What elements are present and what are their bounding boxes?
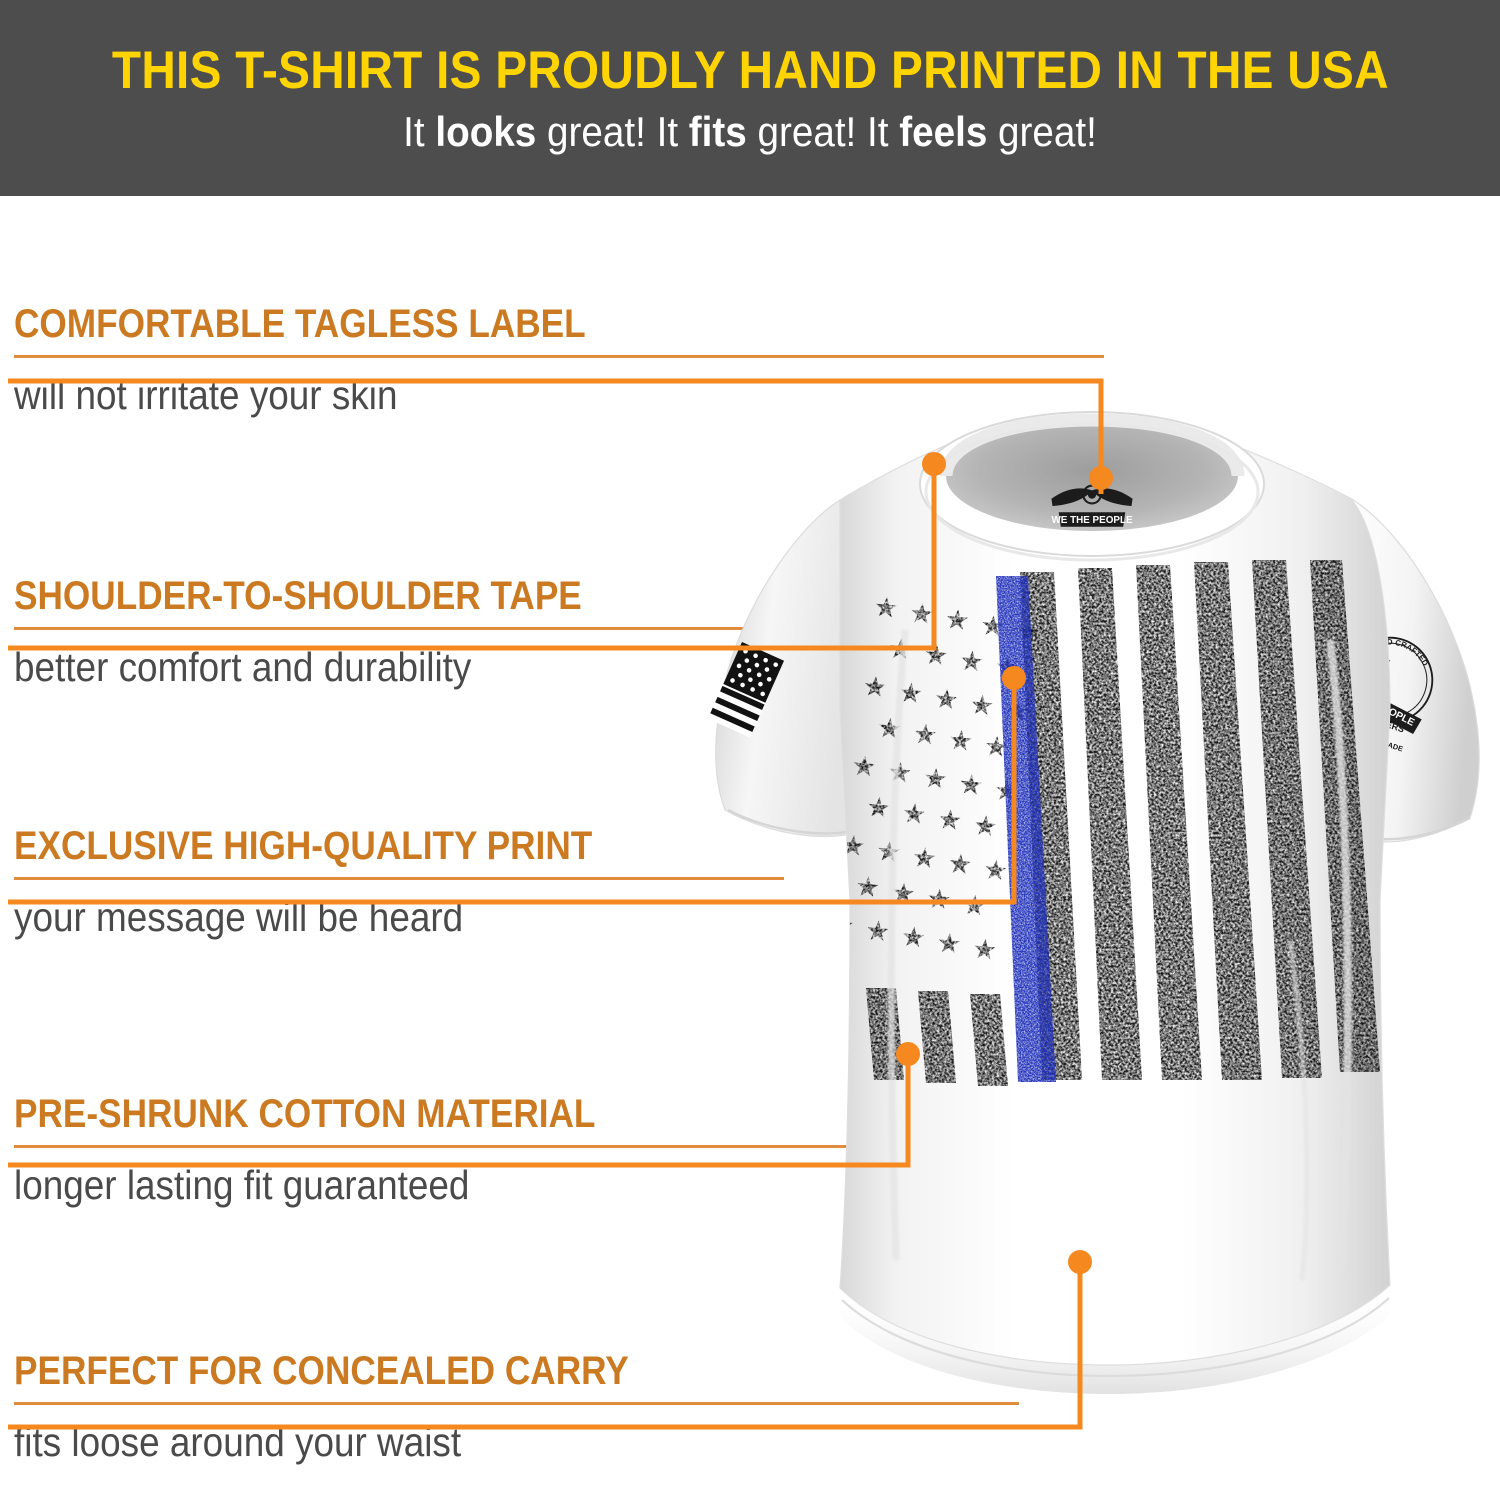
sub-headline-text: great!: [987, 108, 1097, 155]
feature-item-quality-print: EXCLUSIVE HIGH-QUALITY PRINT your messag…: [14, 826, 804, 938]
sub-headline-emphasis: feels: [899, 108, 987, 155]
feature-item-concealed-carry: PERFECT FOR CONCEALED CARRY fits loose a…: [14, 1351, 804, 1463]
feature-subtitle: fits loose around your waist: [14, 1422, 725, 1463]
headline: THIS T-SHIRT IS PROUDLY HAND PRINTED IN …: [112, 44, 1389, 97]
feature-item-shoulder-tape: SHOULDER-TO-SHOULDER TAPE better comfort…: [14, 576, 804, 688]
flag-lower-left-stripes: [866, 988, 1008, 1086]
sub-headline-text: great! It: [536, 108, 688, 155]
feature-divider: [14, 877, 784, 880]
feature-divider: [14, 355, 1104, 358]
neck-tag-text: WE THE PEOPLE: [1051, 515, 1132, 526]
feature-subtitle: your message will be heard: [14, 897, 725, 938]
product-image-tshirt: WE THE PEOPLE HAND CRAFTED HOLSTERS AMER…: [690, 380, 1500, 1440]
sub-headline: It looks great! It fits great! It feels …: [403, 111, 1097, 153]
sub-headline-text: great! It: [747, 108, 899, 155]
feature-subtitle: will not irritate your skin: [14, 375, 725, 416]
sub-headline-emphasis: looks: [435, 108, 536, 155]
feature-item-tagless-label: COMFORTABLE TAGLESS LABEL will not irrit…: [14, 304, 804, 416]
header-banner: THIS T-SHIRT IS PROUDLY HAND PRINTED IN …: [0, 0, 1500, 196]
feature-title: SHOULDER-TO-SHOULDER TAPE: [14, 576, 709, 616]
feature-title: EXCLUSIVE HIGH-QUALITY PRINT: [14, 826, 709, 866]
feature-title: COMFORTABLE TAGLESS LABEL: [14, 304, 709, 344]
sub-headline-text: It: [403, 108, 435, 155]
feature-subtitle: better comfort and durability: [14, 647, 725, 688]
sub-headline-emphasis: fits: [689, 108, 747, 155]
feature-divider: [14, 627, 784, 630]
feature-subtitle: longer lasting fit guaranteed: [14, 1165, 725, 1206]
feature-title: PERFECT FOR CONCEALED CARRY: [14, 1351, 709, 1391]
feature-title: PRE-SHRUNK COTTON MATERIAL: [14, 1094, 709, 1134]
feature-item-preshrunk-cotton: PRE-SHRUNK COTTON MATERIAL longer lastin…: [14, 1094, 804, 1206]
